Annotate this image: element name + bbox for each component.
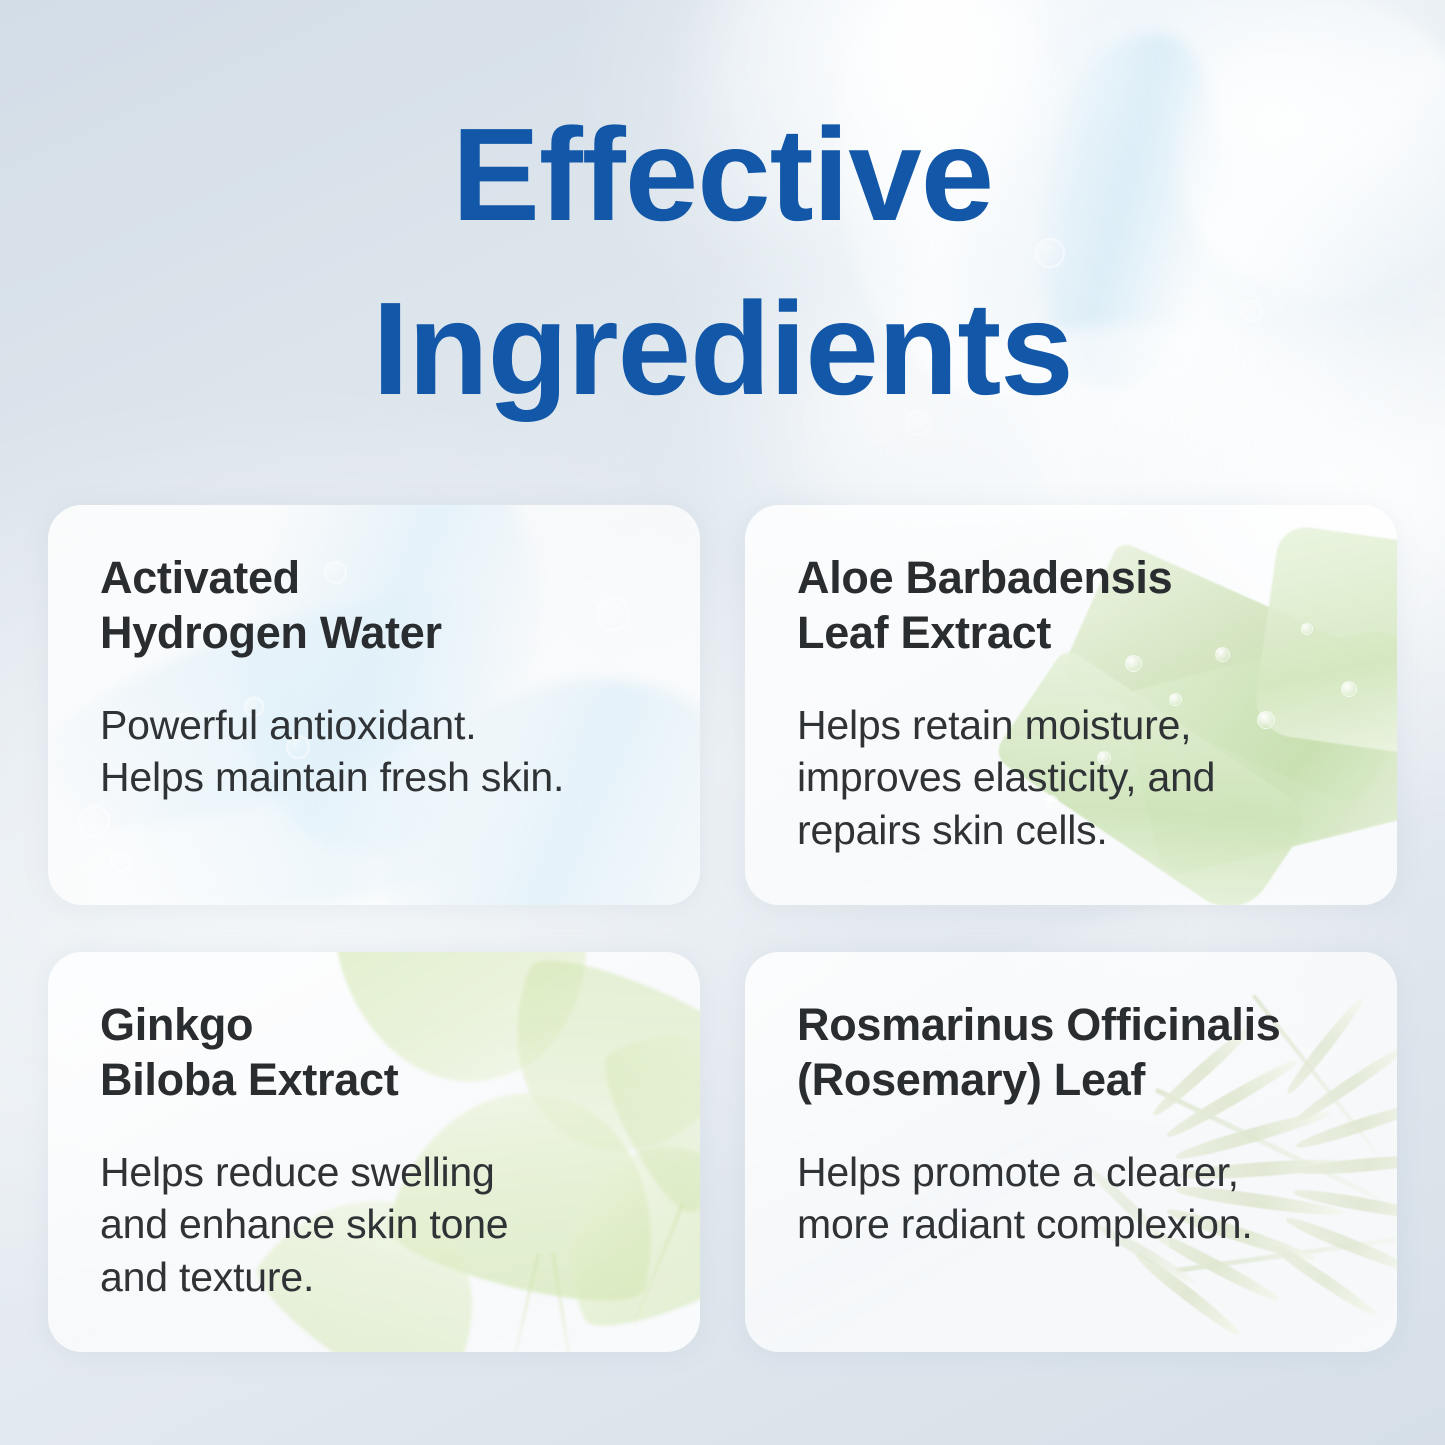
ingredient-card-content: Aloe Barbadensis Leaf Extract Helps reta… (745, 505, 1397, 856)
ingredient-title: Rosmarinus Officinalis (Rosemary) Leaf (797, 998, 1357, 1108)
ingredients-poster: Effective Ingredients Activated (0, 0, 1445, 1445)
ingredient-title-line-2: Leaf Extract (797, 606, 1357, 661)
ingredient-description: Helps retain moisture, improves elastici… (797, 699, 1357, 856)
ingredient-description-line-1: Helps promote a clearer, (797, 1146, 1357, 1198)
ingredient-description-line-2: and enhance skin tone (100, 1198, 660, 1250)
ingredient-description-line-3: repairs skin cells. (797, 804, 1357, 856)
ingredient-card-aloe-barbadensis-leaf-extract[interactable]: Aloe Barbadensis Leaf Extract Helps reta… (745, 505, 1397, 905)
ingredient-card-activated-hydrogen-water[interactable]: Activated Hydrogen Water Powerful antiox… (48, 505, 700, 905)
ingredient-card-grid: Activated Hydrogen Water Powerful antiox… (48, 505, 1397, 1352)
water-bubble-icon (78, 805, 110, 837)
ingredient-description-line-1: Powerful antioxidant. (100, 699, 660, 751)
ingredient-title: Ginkgo Biloba Extract (100, 998, 660, 1108)
ingredient-title-line-2: Biloba Extract (100, 1053, 660, 1108)
ingredient-title-line-1: Activated (100, 551, 660, 606)
ingredient-description-line-1: Helps reduce swelling (100, 1146, 660, 1198)
ingredient-description-line-1: Helps retain moisture, (797, 699, 1357, 751)
ingredient-card-rosmarinus-officinalis-rosemary-leaf[interactable]: Rosmarinus Officinalis (Rosemary) Leaf H… (745, 952, 1397, 1352)
ingredient-description: Powerful antioxidant. Helps maintain fre… (100, 699, 660, 804)
ingredient-card-content: Rosmarinus Officinalis (Rosemary) Leaf H… (745, 952, 1397, 1251)
ingredient-description-line-2: more radiant complexion. (797, 1198, 1357, 1250)
page-title-line-1: Effective (0, 88, 1445, 262)
ingredient-description: Helps promote a clearer, more radiant co… (797, 1146, 1357, 1251)
page-title-line-2: Ingredients (0, 262, 1445, 436)
ingredient-title-line-2: (Rosemary) Leaf (797, 1053, 1357, 1108)
page-title: Effective Ingredients (0, 88, 1445, 436)
ingredient-card-ginkgo-biloba-extract[interactable]: Ginkgo Biloba Extract Helps reduce swell… (48, 952, 700, 1352)
ingredient-title-line-1: Aloe Barbadensis (797, 551, 1357, 606)
ingredient-card-content: Activated Hydrogen Water Powerful antiox… (48, 505, 700, 804)
ingredient-card-content: Ginkgo Biloba Extract Helps reduce swell… (48, 952, 700, 1303)
ingredient-description: Helps reduce swelling and enhance skin t… (100, 1146, 660, 1303)
ingredient-title-line-2: Hydrogen Water (100, 606, 660, 661)
ingredient-description-line-2: improves elasticity, and (797, 751, 1357, 803)
ingredient-description-line-2: Helps maintain fresh skin. (100, 751, 660, 803)
ingredient-title-line-1: Rosmarinus Officinalis (797, 998, 1357, 1053)
ingredient-title: Aloe Barbadensis Leaf Extract (797, 551, 1357, 661)
ingredient-title-line-1: Ginkgo (100, 998, 660, 1053)
ingredient-description-line-3: and texture. (100, 1251, 660, 1303)
ingredient-title: Activated Hydrogen Water (100, 551, 660, 661)
water-bubble-icon (110, 851, 131, 872)
